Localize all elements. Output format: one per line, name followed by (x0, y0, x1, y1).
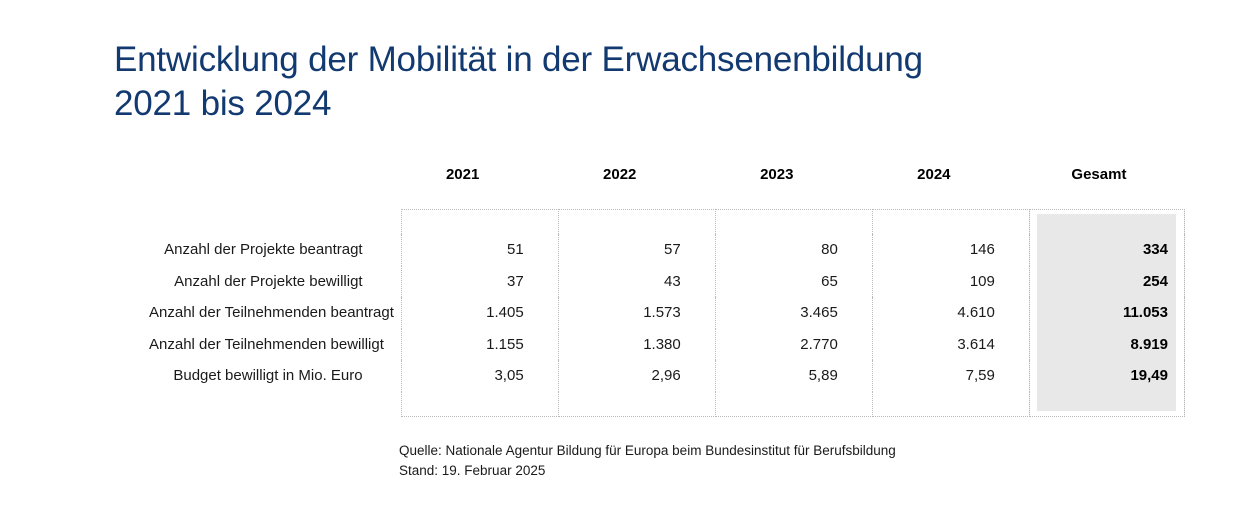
row-label: Anzahl der Teilnehmenden beantragt (148, 297, 401, 329)
row-label: Anzahl der Teilnehmenden bewilligt (148, 329, 401, 361)
spacer-cell-total (1029, 392, 1184, 417)
source-note: Quelle: Nationale Agentur Bildung für Eu… (399, 441, 896, 461)
spacer-cell (715, 210, 872, 235)
cell-2022: 43 (558, 266, 715, 298)
spacer-cell (558, 210, 715, 235)
cell-2024: 3.614 (872, 329, 1029, 361)
cell-2021: 1.405 (401, 297, 558, 329)
footer-notes: Quelle: Nationale Agentur Bildung für Eu… (399, 441, 896, 481)
spacer-cell (148, 392, 401, 417)
column-header-rowlabel (148, 166, 401, 210)
spacer-cell (558, 392, 715, 417)
cell-2024: 7,59 (872, 360, 1029, 392)
cell-2024: 146 (872, 234, 1029, 266)
mobility-statistics-table: 2021 2022 2023 2024 Gesamt Anzahl der Pr… (148, 166, 1185, 417)
spacer-cell-total (1029, 210, 1184, 235)
data-table-container: 2021 2022 2023 2024 Gesamt Anzahl der Pr… (148, 166, 1185, 417)
spacer-cell (148, 210, 401, 235)
cell-2022: 2,96 (558, 360, 715, 392)
cell-2022: 57 (558, 234, 715, 266)
column-header-2022: 2022 (558, 166, 715, 210)
table-header: 2021 2022 2023 2024 Gesamt (148, 166, 1185, 210)
cell-gesamt: 11.053 (1029, 297, 1184, 329)
table-spacer-row-bottom (148, 392, 1185, 417)
cell-2024: 109 (872, 266, 1029, 298)
cell-2023: 2.770 (715, 329, 872, 361)
table-row: Anzahl der Teilnehmenden beantragt 1.405… (148, 297, 1185, 329)
spacer-cell (872, 210, 1029, 235)
table-row: Anzahl der Teilnehmenden bewilligt 1.155… (148, 329, 1185, 361)
cell-2021: 3,05 (401, 360, 558, 392)
cell-2022: 1.573 (558, 297, 715, 329)
spacer-cell (872, 392, 1029, 417)
cell-2021: 1.155 (401, 329, 558, 361)
spacer-cell (401, 392, 558, 417)
cell-2023: 65 (715, 266, 872, 298)
row-label: Anzahl der Projekte beantragt (148, 234, 401, 266)
table-row: Anzahl der Projekte beantragt 51 57 80 1… (148, 234, 1185, 266)
row-label: Anzahl der Projekte bewilligt (148, 266, 401, 298)
column-header-2023: 2023 (715, 166, 872, 210)
cell-gesamt: 8.919 (1029, 329, 1184, 361)
page-title: Entwicklung der Mobilität in der Erwachs… (114, 38, 1114, 126)
table-header-row: 2021 2022 2023 2024 Gesamt (148, 166, 1185, 210)
spacer-cell (715, 392, 872, 417)
column-header-2024: 2024 (872, 166, 1029, 210)
table-body: Anzahl der Projekte beantragt 51 57 80 1… (148, 210, 1185, 417)
table-row: Budget bewilligt in Mio. Euro 3,05 2,96 … (148, 360, 1185, 392)
cell-2021: 51 (401, 234, 558, 266)
table-row: Anzahl der Projekte bewilligt 37 43 65 1… (148, 266, 1185, 298)
cell-2023: 3.465 (715, 297, 872, 329)
cell-2023: 80 (715, 234, 872, 266)
column-header-gesamt: Gesamt (1029, 166, 1184, 210)
table-spacer-row-top (148, 210, 1185, 235)
cell-gesamt: 334 (1029, 234, 1184, 266)
column-header-2021: 2021 (401, 166, 558, 210)
row-label: Budget bewilligt in Mio. Euro (148, 360, 401, 392)
cell-gesamt: 254 (1029, 266, 1184, 298)
cell-2024: 4.610 (872, 297, 1029, 329)
cell-2023: 5,89 (715, 360, 872, 392)
cell-2022: 1.380 (558, 329, 715, 361)
cell-2021: 37 (401, 266, 558, 298)
cell-gesamt: 19,49 (1029, 360, 1184, 392)
spacer-cell (401, 210, 558, 235)
date-note: Stand: 19. Februar 2025 (399, 461, 896, 481)
